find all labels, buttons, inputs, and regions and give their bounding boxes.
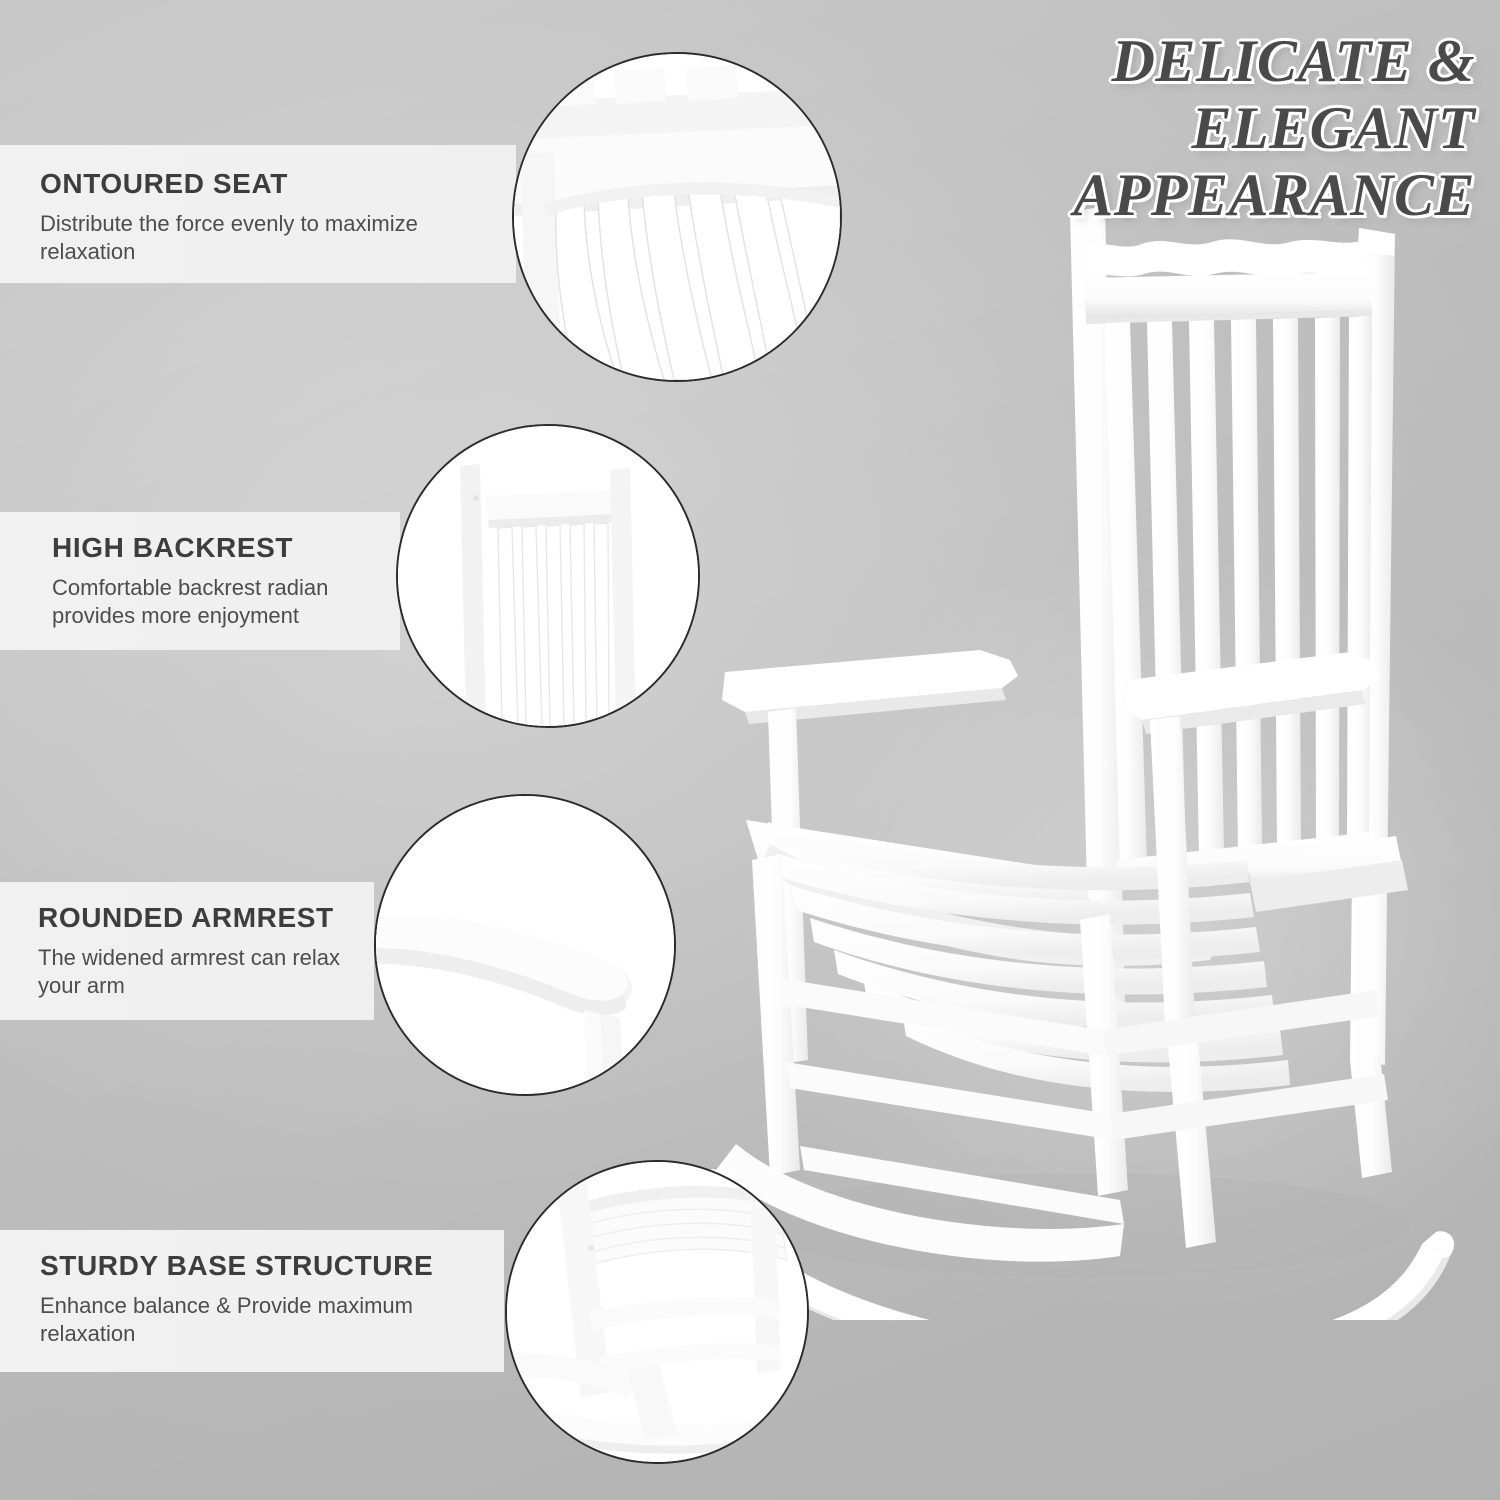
feature-desc-2: Comfortable backrest radian provides mor… [52,574,372,630]
feature-desc-3: The widened armrest can relax your arm [38,944,364,1000]
feature-title-3: ROUNDED ARMREST [38,902,334,934]
feature-title-4: STURDY BASE STRUCTURE [40,1250,433,1282]
feature-title-1: ONTOURED SEAT [40,168,288,200]
backrest-slats-closeup-icon [398,426,698,726]
title-line-2: APPEARANCE [815,162,1475,229]
title-line-1: DELICATE & ELEGANT [1112,28,1475,161]
callout-circle-armrest [374,794,676,1096]
callout-circle-base [505,1160,809,1464]
armrest-closeup-icon [376,796,674,1094]
feature-desc-1: Distribute the force evenly to maximize … [40,210,460,266]
page-title: DELICATE & ELEGANT APPEARANCE [815,28,1475,230]
feature-desc-4: Enhance balance & Provide maximum relaxa… [40,1292,440,1348]
seat-slats-closeup-icon [514,54,840,380]
infographic-canvas: DELICATE & ELEGANT APPEARANCE ONTOURED S… [0,0,1500,1500]
feature-title-2: HIGH BACKREST [52,532,293,564]
callout-circle-backrest [396,424,700,728]
callout-circle-seat [512,52,842,382]
rocker-base-closeup-icon [507,1162,807,1462]
